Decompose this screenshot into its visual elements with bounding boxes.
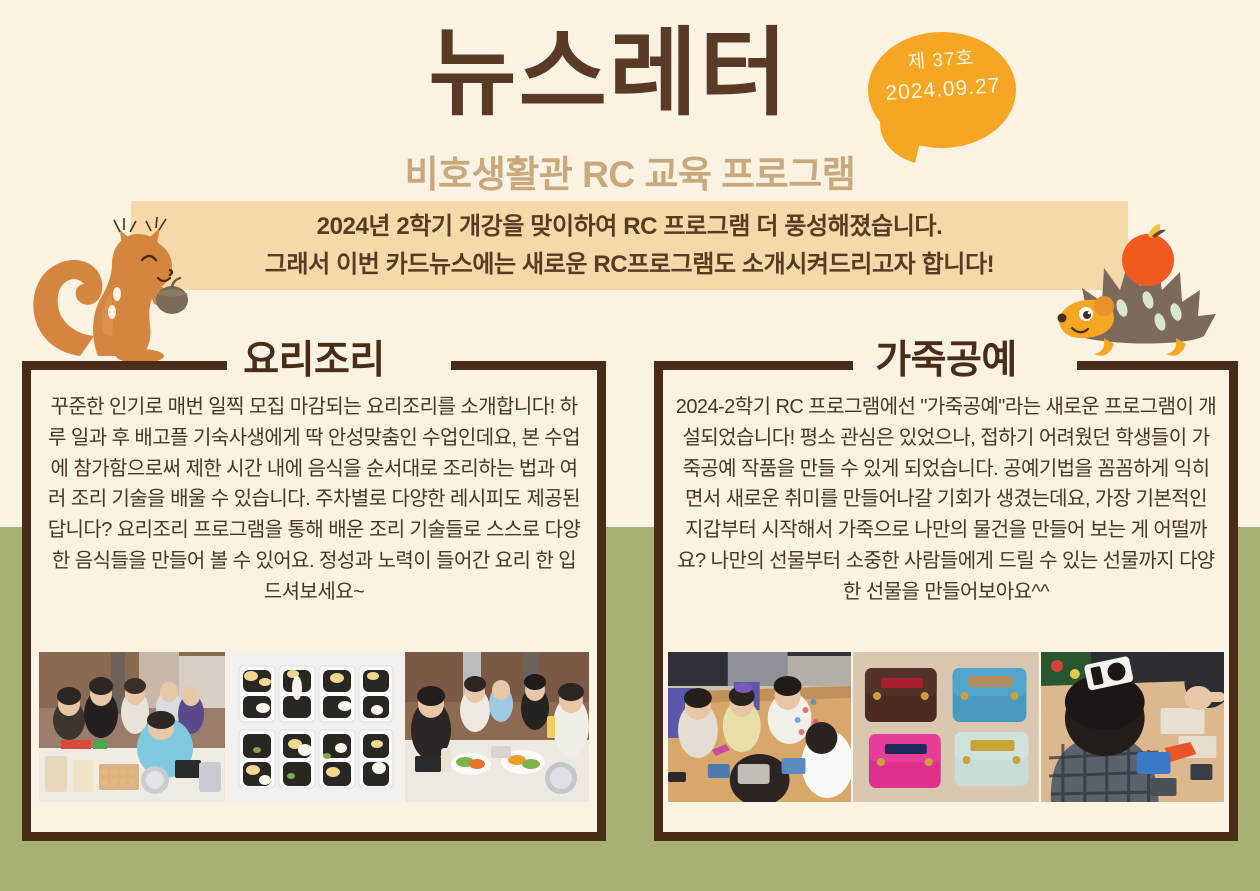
notice-line-2: 그래서 이번 카드뉴스에는 새로운 RC프로그램도 소개시켜드리고자 합니다!	[265, 246, 994, 283]
photo-leather-wallets	[853, 652, 1038, 802]
photo-strip	[668, 652, 1224, 802]
card-title: 가죽공예	[663, 329, 1229, 385]
card-body-text: 꾸준한 인기로 매번 일찍 모집 마감되는 요리조리를 소개합니다! 하루 일과…	[43, 392, 585, 608]
photo-leather-workshop	[668, 652, 851, 802]
card-title: 요리조리	[31, 329, 597, 385]
issue-badge-text: 제 37호 2024.09.27	[866, 43, 1018, 109]
program-card-leather: 가죽공예 2024-2학기 RC 프로그램에선 "가죽공예"라는 새로운 프로그…	[654, 361, 1238, 841]
photo-student-crafting	[1041, 652, 1224, 802]
page-title: 뉴스레터	[0, 24, 1260, 125]
photo-strip	[39, 652, 589, 802]
page-subtitle: 비호생활관 RC 교육 프로그램	[0, 144, 1260, 198]
newsletter-card: 뉴스레터 비호생활관 RC 교육 프로그램 제 37호 2024.09.27 2…	[0, 0, 1260, 891]
notice-banner: 2024년 2학기 개강을 맞이하여 RC 프로그램 더 풍성해졌습니다. 그래…	[131, 201, 1128, 290]
notice-line-1: 2024년 2학기 개강을 맞이하여 RC 프로그램 더 풍성해졌습니다.	[317, 208, 943, 245]
photo-kimbap-containers	[227, 652, 403, 802]
photo-cooking-class	[39, 652, 225, 802]
card-body-text: 2024-2학기 RC 프로그램에선 "가죽공예"라는 새로운 프로그램이 개설…	[675, 392, 1217, 608]
header: 뉴스레터 비호생활관 RC 교육 프로그램	[0, 0, 1260, 200]
program-card-cooking: 요리조리 꾸준한 인기로 매번 일찍 모집 마감되는 요리조리를 소개합니다! …	[22, 361, 606, 841]
photo-students-plating	[405, 652, 589, 802]
